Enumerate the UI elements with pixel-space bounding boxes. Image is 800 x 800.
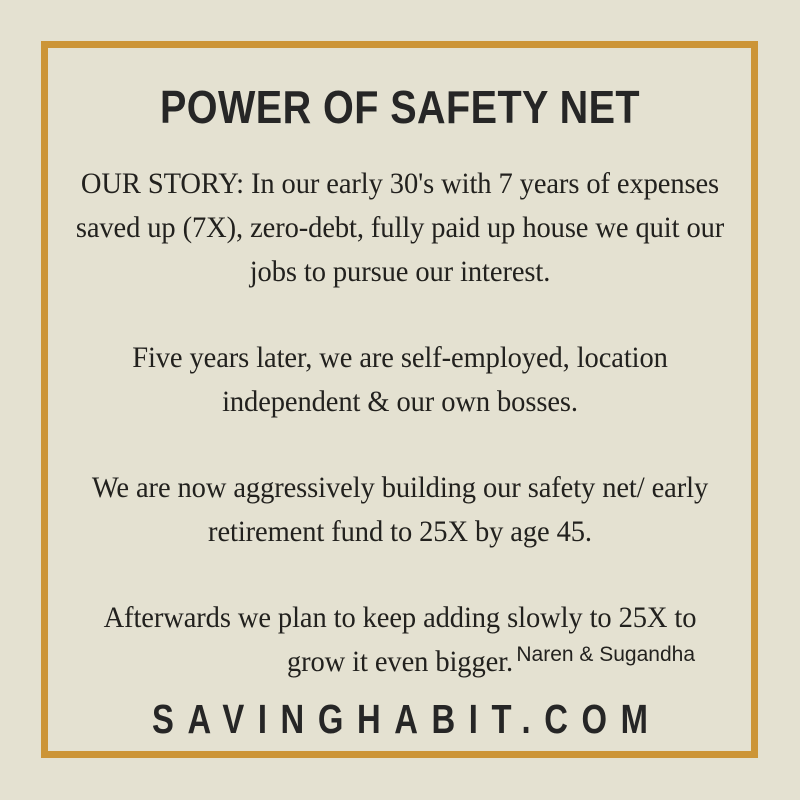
poster-canvas: POWER OF SAFETY NET OUR STORY: In our ea… (0, 0, 800, 800)
poster-content: POWER OF SAFETY NET OUR STORY: In our ea… (0, 0, 800, 800)
story-body: OUR STORY: In our early 30's with 7 year… (55, 162, 745, 684)
page-title: POWER OF SAFETY NET (56, 84, 744, 130)
story-paragraph-2: Five years later, we are self-employed, … (72, 336, 728, 424)
footer-brand-website: SAVINGHABIT.COM (80, 697, 720, 741)
author-signature: Naren & Sugandha (516, 643, 695, 667)
story-paragraph-1: OUR STORY: In our early 30's with 7 year… (72, 162, 728, 294)
story-paragraph-4: Afterwards we plan to keep adding slowly… (72, 596, 728, 684)
story-paragraph-3: We are now aggressively building our saf… (72, 466, 728, 554)
